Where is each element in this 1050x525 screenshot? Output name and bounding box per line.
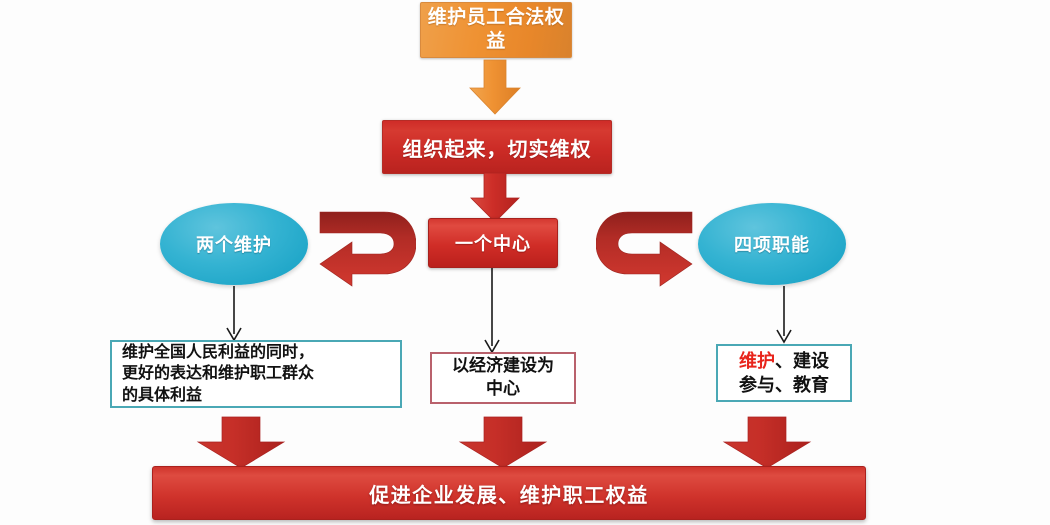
detail-box-right: 维护、建设 参与、教育 [716, 344, 852, 402]
block-arrow-down-footer-right-icon [722, 416, 812, 470]
curved-arrow-left-icon [312, 202, 416, 288]
block-arrow-down-orange-icon [466, 58, 524, 116]
red-banner-organize: 组织起来，切实维权 [382, 120, 612, 174]
flowchart-canvas: 维护员工合法权益 组织起来，切实维权 两个维护 [0, 0, 1050, 525]
right-oval-label: 四项职能 [734, 231, 810, 257]
detail-box-left: 维护全国人民利益的同时， 更好的表达和维护职工群众 的具体利益 [110, 340, 402, 408]
curved-arrow-right-icon [596, 202, 700, 288]
detail-right-line1: 维护、建设 [739, 349, 829, 373]
thin-arrow-down-left-icon [222, 286, 246, 342]
top-banner-label: 维护员工合法权益 [421, 6, 571, 55]
detail-left-line2: 更好的表达和维护职工群众 [122, 363, 314, 385]
detail-right-highlight: 维护 [739, 351, 775, 371]
red-banner-label: 组织起来，切实维权 [403, 133, 592, 162]
detail-left-line3: 的具体利益 [122, 385, 202, 407]
thin-arrow-down-right-icon [772, 286, 796, 344]
detail-middle-line1: 以经济建设为 [452, 355, 554, 378]
block-arrow-down-footer-left-icon [196, 416, 286, 470]
footer-red-banner: 促进企业发展、维护职工权益 [152, 466, 866, 520]
node-right-oval: 四项职能 [698, 203, 846, 285]
node-left-oval: 两个维护 [160, 203, 308, 285]
detail-middle-line2: 中心 [486, 378, 520, 401]
node-center-box: 一个中心 [428, 218, 558, 268]
detail-box-middle: 以经济建设为 中心 [430, 352, 576, 404]
detail-right-line2: 参与、教育 [739, 373, 829, 397]
thin-arrow-down-middle-icon [480, 268, 504, 354]
footer-banner-label: 促进企业发展、维护职工权益 [369, 479, 649, 508]
detail-left-line1: 维护全国人民利益的同时， [122, 342, 314, 364]
block-arrow-down-red-icon [466, 172, 524, 224]
left-oval-label: 两个维护 [196, 231, 272, 257]
center-box-label: 一个中心 [455, 230, 531, 256]
top-orange-banner: 维护员工合法权益 [420, 2, 572, 58]
detail-right-rest: 、建设 [775, 351, 829, 371]
block-arrow-down-footer-middle-icon [458, 416, 548, 470]
